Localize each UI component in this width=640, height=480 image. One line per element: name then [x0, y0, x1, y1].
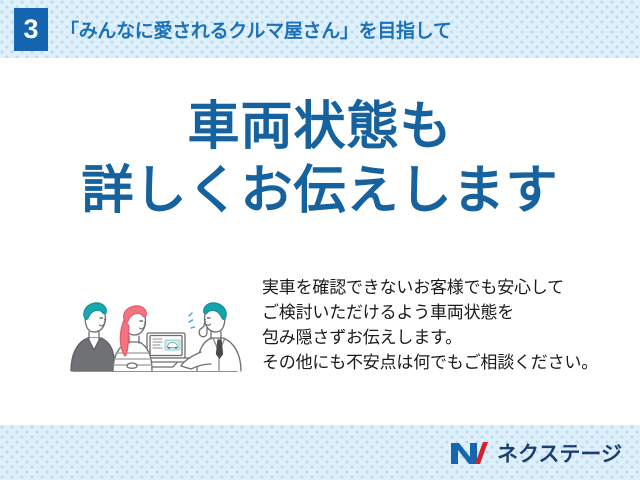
- nextage-n-logo-icon: [449, 439, 489, 467]
- footer-band: ネクステージ: [0, 425, 640, 480]
- body-copy-line-3: 包み隠さずお伝えします。: [262, 326, 634, 351]
- header-band: 3 「みんなに愛されるクルマ屋さん」を目指して: [0, 0, 640, 58]
- headline-line-2: 詳しくお伝えします: [0, 162, 640, 220]
- advertisement-banner: 3 「みんなに愛されるクルマ屋さん」を目指して 車両状態も 詳しくお伝えします: [0, 0, 640, 480]
- step-number-badge: 3: [14, 8, 48, 51]
- body-copy-line-2: ご検討いただけるよう車両状態を: [262, 301, 634, 326]
- content-row: 実車を確認できないお客様でも安心して ご検討いただけるよう車両状態を 包み隠さず…: [0, 270, 640, 410]
- main-stage: 車両状態も 詳しくお伝えします: [0, 58, 640, 425]
- header-title: 「みんなに愛されるクルマ屋さん」を目指して: [60, 16, 452, 43]
- brand-name: ネクステージ: [497, 438, 622, 468]
- header-content: 3 「みんなに愛されるクルマ屋さん」を目指して: [0, 0, 640, 58]
- consultation-illustration-svg: [55, 272, 255, 392]
- body-copy: 実車を確認できないお客様でも安心して ご検討いただけるよう車両状態を 包み隠さず…: [262, 276, 634, 376]
- consultation-illustration: [55, 272, 255, 392]
- headline: 車両状態も 詳しくお伝えします: [0, 98, 640, 220]
- headline-line-1: 車両状態も: [0, 98, 640, 156]
- body-copy-line-4: その他にも不安点は何でもご相談ください。: [262, 351, 634, 376]
- brand-logo-lockup: ネクステージ: [449, 425, 622, 480]
- body-copy-line-1: 実車を確認できないお客様でも安心して: [262, 276, 634, 301]
